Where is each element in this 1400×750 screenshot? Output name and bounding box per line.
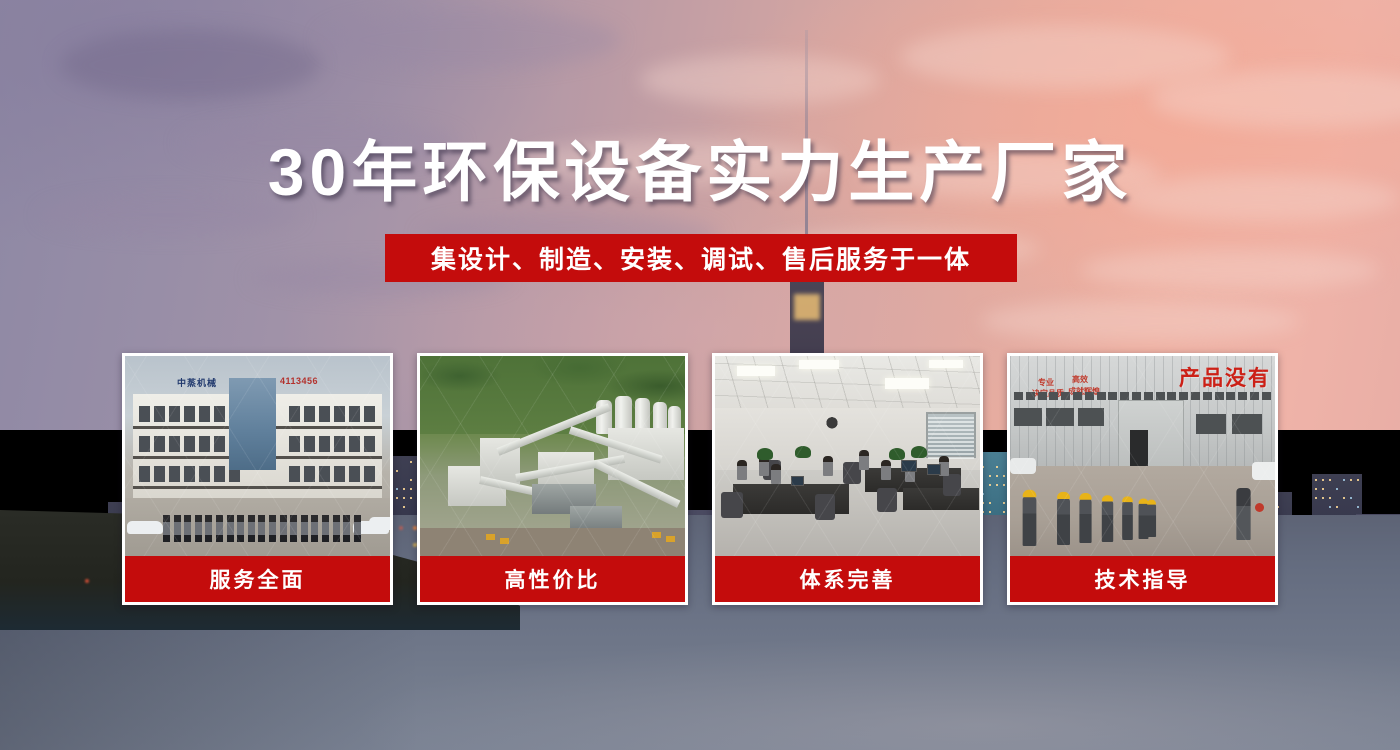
card-label: 体系完善 xyxy=(715,556,980,602)
facade-window xyxy=(214,436,225,452)
ceiling-light-panel xyxy=(799,360,839,369)
window-blind-slat xyxy=(928,433,974,435)
building-window xyxy=(1343,479,1345,481)
building-window xyxy=(1329,506,1331,508)
staff-member xyxy=(280,515,287,542)
window-blind-slat xyxy=(928,453,974,455)
computer-monitor xyxy=(927,464,941,475)
office-chair xyxy=(877,488,897,512)
computer-monitor xyxy=(901,460,917,472)
facade-window xyxy=(154,466,165,482)
staff-member xyxy=(205,515,212,542)
cloud xyxy=(60,30,320,100)
staff-member xyxy=(354,515,361,542)
clerestory-window xyxy=(1226,392,1235,400)
facade-window xyxy=(349,466,360,482)
office-desk xyxy=(903,488,979,510)
clerestory-window xyxy=(1049,392,1058,400)
staff-member xyxy=(248,515,255,542)
facade-window xyxy=(154,436,165,452)
clerestory-window xyxy=(1026,392,1035,400)
card-label: 高性价比 xyxy=(420,556,685,602)
potted-plant xyxy=(757,448,773,460)
feature-card[interactable]: 中蒸机械 4113456 服务全面 xyxy=(122,353,393,605)
facade-window xyxy=(364,466,375,482)
facade-window xyxy=(334,406,345,422)
facade-window xyxy=(169,466,180,482)
cloud xyxy=(900,25,1230,89)
ceiling-light-panel xyxy=(737,366,775,376)
building-window xyxy=(1315,479,1317,481)
facade-window xyxy=(214,466,225,482)
office-window xyxy=(926,412,976,458)
staff-member xyxy=(216,515,223,542)
window-blind-slat xyxy=(928,449,974,451)
staff-member xyxy=(237,515,244,542)
safety-helmet xyxy=(1102,495,1113,501)
clerestory-window xyxy=(1061,392,1070,400)
parked-car xyxy=(127,521,163,534)
building-window xyxy=(1329,479,1331,481)
staff-member xyxy=(269,515,276,542)
window-blind-slat xyxy=(928,457,974,459)
clerestory-window xyxy=(1144,392,1153,400)
excavator xyxy=(486,534,495,540)
safety-helmet xyxy=(1122,496,1133,502)
cloud xyxy=(320,10,620,70)
building-window xyxy=(1336,506,1338,508)
facade-window xyxy=(364,406,375,422)
staff-member xyxy=(258,515,265,542)
workshop-window xyxy=(1014,408,1042,426)
card-label-text: 体系完善 xyxy=(800,564,896,594)
parked-van xyxy=(1010,458,1036,474)
clerestory-window xyxy=(1179,392,1188,400)
building-window xyxy=(1322,488,1324,490)
facade-window xyxy=(319,436,330,452)
workshop-slogan-large: 产品没有 xyxy=(1179,362,1271,392)
building-floor-line xyxy=(133,486,382,489)
workshop-slogan-small-2: 高效 xyxy=(1072,375,1088,384)
red-helmet-held xyxy=(1255,503,1264,512)
subtitle-banner: 集设计、制造、安装、调试、售后服务于一体 xyxy=(385,234,1017,282)
facade-window xyxy=(349,436,360,452)
window-blind-slat xyxy=(928,421,974,423)
factory-worker xyxy=(1122,501,1133,540)
facade-window xyxy=(349,406,360,422)
factory-worker xyxy=(1079,499,1091,543)
facade-window xyxy=(214,406,225,422)
clerestory-window xyxy=(1085,392,1094,400)
facade-window xyxy=(199,466,210,482)
feature-card[interactable]: 体系完善 xyxy=(712,353,983,605)
factory-worker xyxy=(1102,500,1113,542)
clerestory-window xyxy=(1073,392,1082,400)
shore-light xyxy=(85,579,89,583)
clerestory-window xyxy=(1191,392,1200,400)
facade-window xyxy=(319,466,330,482)
clerestory-window xyxy=(1097,392,1106,400)
staff-member xyxy=(184,515,191,542)
supervisor xyxy=(1236,488,1250,540)
workshop-window xyxy=(1078,408,1104,426)
staff-member xyxy=(343,515,350,542)
facade-window xyxy=(184,436,195,452)
factory-worker xyxy=(1057,497,1070,544)
building-window xyxy=(1322,479,1324,481)
building-window xyxy=(1329,497,1331,499)
facade-window xyxy=(319,406,330,422)
facade-window xyxy=(169,436,180,452)
facade-window xyxy=(364,436,375,452)
building-window xyxy=(1343,497,1345,499)
facade-window xyxy=(334,466,345,482)
cloud xyxy=(640,55,880,105)
staff-member xyxy=(311,515,318,542)
staff-member xyxy=(174,515,181,542)
factory-worker xyxy=(1147,504,1156,537)
office-chair xyxy=(815,494,835,520)
building-glass-atrium xyxy=(229,378,276,470)
feature-card[interactable]: 高性价比 xyxy=(417,353,688,605)
office-chair xyxy=(721,492,743,518)
office-wall-logo xyxy=(819,414,845,436)
staff-member xyxy=(290,515,297,542)
window-blind-slat xyxy=(928,441,974,443)
clerestory-window xyxy=(1156,392,1165,400)
clerestory-window xyxy=(1203,392,1212,400)
ceiling-light-panel xyxy=(885,378,929,389)
window-blind-slat xyxy=(928,425,974,427)
office-worker xyxy=(737,460,747,480)
building-window xyxy=(1357,479,1359,481)
office-worker xyxy=(859,450,869,470)
office-chair xyxy=(943,474,961,496)
facade-window xyxy=(304,466,315,482)
card-label-text: 技术指导 xyxy=(1095,564,1191,594)
facade-window xyxy=(304,406,315,422)
safety-helmet xyxy=(1057,491,1070,498)
potted-plant xyxy=(911,446,927,458)
workshop-slogan-small-1: 专业 xyxy=(1038,378,1054,387)
tower-crown-light xyxy=(794,294,820,320)
clerestory-window xyxy=(1167,392,1176,400)
building-window xyxy=(1315,497,1317,499)
staff-member xyxy=(322,515,329,542)
facade-window xyxy=(289,406,300,422)
ceiling-light-panel xyxy=(929,360,963,368)
workshop-window xyxy=(1046,408,1074,426)
clerestory-window xyxy=(1120,392,1129,400)
card-label-text: 服务全面 xyxy=(210,564,306,594)
facade-window xyxy=(199,406,210,422)
facade-window xyxy=(139,436,150,452)
facade-window xyxy=(169,406,180,422)
facade-window xyxy=(304,436,315,452)
building-signage: 中蒸机械 xyxy=(177,376,217,389)
office-worker xyxy=(881,460,891,480)
staff-member xyxy=(163,515,170,542)
potted-plant xyxy=(795,446,811,458)
page-title: 30年环保设备实力生产厂家 xyxy=(0,139,1400,205)
building-window xyxy=(1336,488,1338,490)
building-phone-number: 4113456 xyxy=(280,376,318,386)
excavator xyxy=(652,532,661,538)
card-photo-workshop-briefing: 产品没有 专业 高效 决定品质 成就辉煌 xyxy=(1010,356,1275,556)
facade-window xyxy=(139,466,150,482)
hero-banner: 30年环保设备实力生产厂家 集设计、制造、安装、调试、售后服务于一体 中蒸机械 … xyxy=(0,0,1400,750)
window-blind-slat xyxy=(928,445,974,447)
workshop-roller-door xyxy=(1118,400,1184,468)
safety-helmet xyxy=(1079,493,1091,500)
facade-window xyxy=(139,406,150,422)
workshop-window xyxy=(1232,414,1262,434)
factory-worker xyxy=(1023,496,1037,546)
window-blind-slat xyxy=(928,429,974,431)
window-blind-slat xyxy=(928,437,974,439)
staff-member xyxy=(195,515,202,542)
clerestory-window xyxy=(1262,392,1271,400)
clerestory-window xyxy=(1014,392,1023,400)
facade-window xyxy=(289,436,300,452)
clerestory-window xyxy=(1250,392,1259,400)
building-window xyxy=(1315,488,1317,490)
safety-helmet xyxy=(1147,500,1156,505)
potted-plant xyxy=(889,448,905,460)
staff-member xyxy=(227,515,234,542)
clerestory-window xyxy=(1108,392,1117,400)
card-label-text: 高性价比 xyxy=(505,564,601,594)
facade-window xyxy=(289,466,300,482)
card-photo-headquarters: 中蒸机械 4113456 xyxy=(125,356,390,556)
building-window xyxy=(1322,497,1324,499)
facade-window xyxy=(184,466,195,482)
workshop-window xyxy=(1196,414,1226,434)
excavator xyxy=(666,536,675,542)
feature-card[interactable]: 产品没有 专业 高效 决定品质 成就辉煌 技术指导 xyxy=(1007,353,1278,605)
staff-member xyxy=(301,515,308,542)
staff-member xyxy=(333,515,340,542)
subtitle-text: 集设计、制造、安装、调试、售后服务于一体 xyxy=(431,240,971,276)
clerestory-window xyxy=(1132,392,1141,400)
parked-car xyxy=(1252,462,1275,480)
facade-window xyxy=(199,436,210,452)
parked-car xyxy=(369,517,390,530)
excavator xyxy=(500,538,509,544)
facade-window xyxy=(154,406,165,422)
card-label: 技术指导 xyxy=(1010,556,1275,602)
card-label: 服务全面 xyxy=(125,556,390,602)
window-blind-slat xyxy=(928,417,974,419)
building-window xyxy=(1357,506,1359,508)
card-photo-industrial-plant xyxy=(420,356,685,556)
clerestory-window xyxy=(1038,392,1047,400)
safety-helmet xyxy=(1023,490,1037,498)
card-photo-office-interior xyxy=(715,356,980,556)
feature-card-row: 中蒸机械 4113456 服务全面 高性价比 xyxy=(122,353,1278,605)
clerestory-window xyxy=(1215,392,1224,400)
clerestory-window xyxy=(1238,392,1247,400)
workshop-side-door xyxy=(1130,430,1148,468)
building-window xyxy=(1350,497,1352,499)
plant-yard xyxy=(420,528,685,556)
computer-monitor xyxy=(791,476,804,486)
facade-window xyxy=(184,406,195,422)
building-window xyxy=(1350,479,1352,481)
facade-window xyxy=(334,436,345,452)
office-worker xyxy=(771,464,781,484)
office-worker xyxy=(823,456,833,476)
